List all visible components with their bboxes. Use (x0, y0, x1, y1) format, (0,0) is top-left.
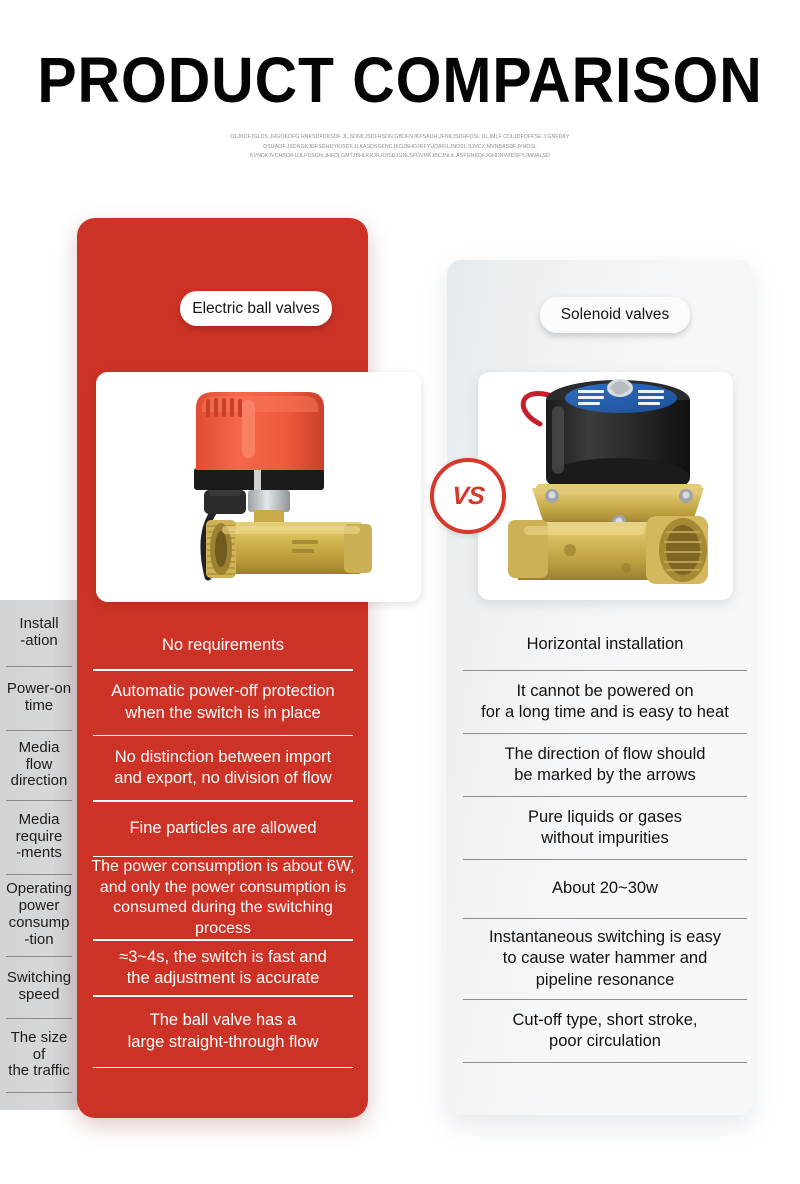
solenoid-valve-row: About 20~30w (455, 860, 755, 918)
electric-ball-valve-row: Fine particles are allowed (88, 802, 358, 856)
solenoid-valve-image (478, 372, 733, 600)
criteria-label: Switching speed (0, 956, 78, 1018)
electric-ball-valve-image (96, 372, 421, 602)
page-subtitle: OLJKDFJGLDS JHGOKDFG HNKSDFDKSDF JL,SDNK… (0, 133, 800, 162)
criteria-label: Power-on time (0, 666, 78, 730)
solenoid-valve-row: Pure liquids or gases without impurities (455, 797, 755, 859)
solenoid-valve-row: Instantaneous switching is easy to cause… (455, 919, 755, 999)
row-divider (463, 1062, 747, 1063)
criteria-label: Install -ation (0, 600, 78, 666)
solenoid-valve-rows: Horizontal installationIt cannot be powe… (455, 620, 755, 1063)
electric-ball-valve-row: Automatic power-off protection when the … (88, 671, 358, 735)
solenoid-valve-row: Cut-off type, short stroke, poor circula… (455, 1000, 755, 1062)
solenoid-valve-row: It cannot be powered on for a long time … (455, 671, 755, 733)
solenoid-valve-tag: Solenoid valves (540, 297, 690, 333)
criteria-divider (6, 1092, 72, 1093)
criteria-label: Media require -ments (0, 800, 78, 874)
criteria-label: Media flow direction (0, 730, 78, 800)
electric-ball-valve-row: The ball valve has a large straight-thro… (88, 997, 358, 1067)
vs-badge-label: VS (451, 482, 485, 511)
electric-ball-valve-tag: Electric ball valves (180, 291, 332, 326)
electric-ball-valve-rows: No requirementsAutomatic power-off prote… (88, 623, 358, 1068)
page-title: PRODUCT COMPARISON (32, 48, 768, 112)
electric-ball-valve-row: No requirements (88, 623, 358, 669)
row-divider (93, 1067, 353, 1069)
solenoid-valve-row: Horizontal installation (455, 620, 755, 670)
electric-ball-valve-row: No distinction between import and export… (88, 736, 358, 800)
electric-ball-valve-row: ≈3~4s, the switch is fast and the adjust… (88, 941, 358, 995)
criteria-label: Operating power consump -tion (0, 874, 78, 956)
solenoid-valve-row: The direction of flow should be marked b… (455, 734, 755, 796)
vs-badge: VS (430, 458, 506, 534)
electric-ball-valve-row: The power consumption is about 6W, and o… (88, 857, 358, 939)
criteria-label: The size of the traffic (0, 1018, 78, 1092)
criteria-label-column: Install -ationPower-on timeMedia flow di… (0, 600, 78, 1110)
